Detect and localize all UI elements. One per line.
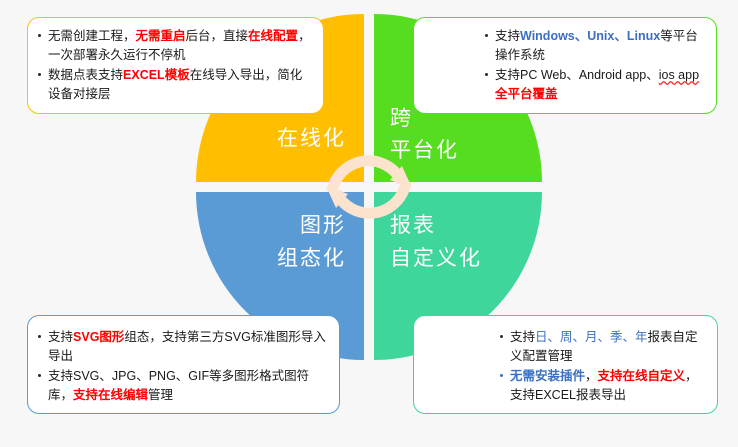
text-run: 支持在线编辑 xyxy=(73,388,148,402)
text-run: 支持 xyxy=(510,330,535,344)
text-run: ， xyxy=(585,369,598,383)
text-run: Windows、Unix、Linux xyxy=(520,29,660,43)
text-run: 后台，直接 xyxy=(186,29,249,43)
text-run: 无需重启 xyxy=(136,29,186,43)
text-run: SVG图形 xyxy=(73,330,124,344)
quadrant-graphics-line2: 组态化 xyxy=(277,243,346,276)
text-run: 全平台覆盖 xyxy=(495,87,558,101)
text-run: 支持 xyxy=(495,29,520,43)
callout-online-item: 数据点表支持EXCEL模板在线导入导出，简化设备对接层 xyxy=(37,66,313,104)
text-run: 支持 xyxy=(48,330,73,344)
callout-platform-item: 支持Windows、Unix、Linux等平台操作系统 xyxy=(484,27,706,65)
quadrant-reports-line2: 自定义化 xyxy=(390,243,482,276)
text-run: 数据点表支持 xyxy=(48,68,123,82)
text-run: EXCEL模板 xyxy=(123,68,190,82)
quadrant-platform-line1: 跨 xyxy=(390,103,413,136)
callout-graphics-list: 支持SVG图形组态，支持第三方SVG标准图形导入导出支持SVG、JPG、PNG、… xyxy=(37,328,329,405)
quadrant-graphics-line1: 图形 xyxy=(300,210,346,243)
callout-graphics: 支持SVG图形组态，支持第三方SVG标准图形导入导出支持SVG、JPG、PNG、… xyxy=(27,315,340,414)
callout-online-list: 无需创建工程，无需重启后台，直接在线配置，一次部署永久运行不停机数据点表支持EX… xyxy=(37,27,313,104)
text-run: 无需安装插件 xyxy=(510,369,585,383)
callout-platform-list: 支持Windows、Unix、Linux等平台操作系统支持PC Web、Andr… xyxy=(484,27,706,104)
callout-platform: 支持Windows、Unix、Linux等平台操作系统支持PC Web、Andr… xyxy=(413,17,717,114)
callout-graphics-item: 支持SVG图形组态，支持第三方SVG标准图形导入导出 xyxy=(37,328,329,366)
text-run: 日、周、月、季、年 xyxy=(535,330,648,344)
callout-platform-item: 支持PC Web、Android app、ios app全平台覆盖 xyxy=(484,66,706,104)
text-run: ios app xyxy=(659,68,699,82)
text-run: 无需创建工程， xyxy=(48,29,136,43)
callout-reports: 支持日、周、月、季、年报表自定义配置管理无需安装插件，支持在线自定义，支持EXC… xyxy=(413,315,718,414)
text-run: 在线配置 xyxy=(248,29,298,43)
text-run: 管理 xyxy=(148,388,173,402)
quadrant-online-line2: 在线化 xyxy=(277,123,346,156)
callout-online-item: 无需创建工程，无需重启后台，直接在线配置，一次部署永久运行不停机 xyxy=(37,27,313,65)
quadrant-reports-line1: 报表 xyxy=(390,210,436,243)
callout-reports-item: 无需安装插件，支持在线自定义，支持EXCEL报表导出 xyxy=(499,367,707,405)
quadrant-platform-line2: 平台化 xyxy=(390,135,459,168)
callout-reports-item: 支持日、周、月、季、年报表自定义配置管理 xyxy=(499,328,707,366)
callout-online: 无需创建工程，无需重启后台，直接在线配置，一次部署永久运行不停机数据点表支持EX… xyxy=(27,17,324,114)
callout-reports-list: 支持日、周、月、季、年报表自定义配置管理无需安装插件，支持在线自定义，支持EXC… xyxy=(499,328,707,405)
text-run: 支持PC Web、Android app、 xyxy=(495,68,659,82)
callout-graphics-item: 支持SVG、JPG、PNG、GIF等多图形格式图符库，支持在线编辑管理 xyxy=(37,367,329,405)
text-run: 支持在线自定义 xyxy=(598,369,686,383)
